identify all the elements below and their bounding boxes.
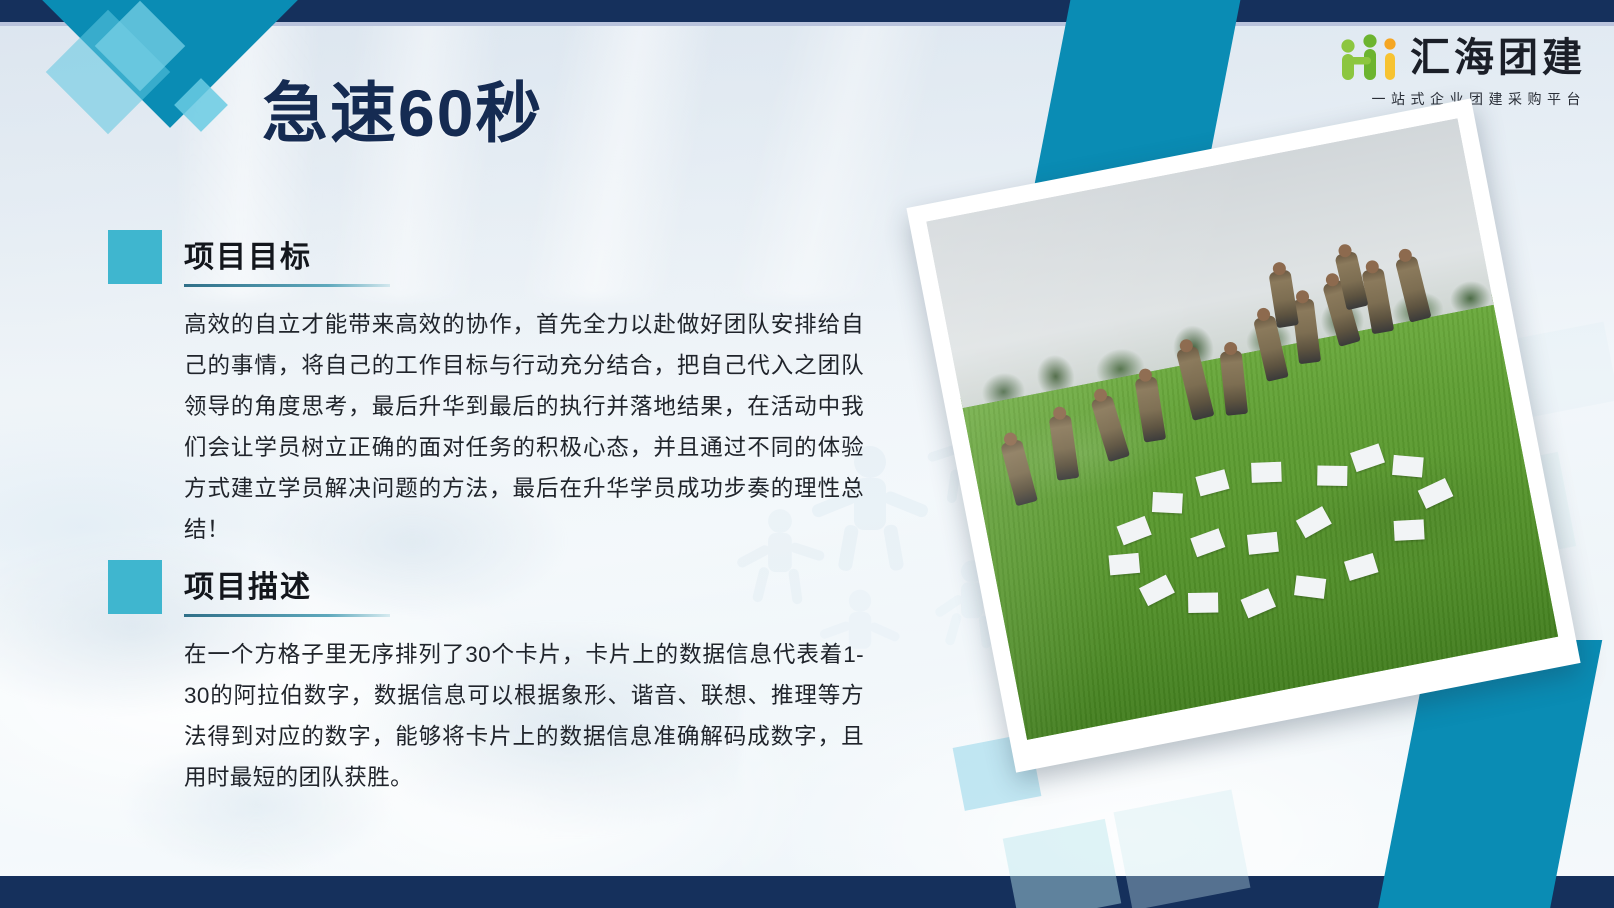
hi-people-icon xyxy=(1337,34,1401,82)
slide-canvas: 急速60秒 汇海团建 一站式企业团建采购平台 项目目标 高效的自立才能带来高效的… xyxy=(0,0,1614,908)
section-description-title: 项目描述 xyxy=(184,562,312,606)
photo-number-card xyxy=(1152,492,1183,514)
photo-number-card xyxy=(1294,576,1326,600)
photo-number-card xyxy=(1251,462,1282,483)
section-goal-body: 高效的自立才能带来高效的协作，首先全力以赴做好团队安排给自己的事情，将自己的工作… xyxy=(184,304,864,550)
square-marker-icon xyxy=(108,230,162,284)
photo-number-card xyxy=(1318,465,1348,486)
section-description-body: 在一个方格子里无序排列了30个卡片，卡片上的数据信息代表着1-30的阿拉伯数字，… xyxy=(184,634,864,798)
activity-photo-card xyxy=(906,98,1580,772)
decor-square-c xyxy=(1114,789,1251,908)
brand-logo: 汇海团建 一站式企业团建采购平台 xyxy=(1337,34,1586,109)
section-goal-title: 项目目标 xyxy=(184,232,312,276)
section-description-header: 项目描述 xyxy=(108,558,868,622)
photo-number-card xyxy=(1247,531,1279,554)
section-goal-rule xyxy=(184,284,390,287)
logo-tagline: 一站式企业团建采购平台 xyxy=(1372,89,1587,109)
page-title: 急速60秒 xyxy=(262,60,543,156)
activity-photo xyxy=(926,118,1558,740)
photo-number-card xyxy=(1188,593,1218,614)
photo-number-card xyxy=(1392,455,1424,478)
section-goal-header: 项目目标 xyxy=(108,228,868,292)
section-description: 项目描述 在一个方格子里无序排列了30个卡片，卡片上的数据信息代表着1-30的阿… xyxy=(108,558,868,798)
section-description-rule xyxy=(184,614,390,617)
logo-row: 汇海团建 xyxy=(1337,34,1586,82)
photo-number-card xyxy=(1394,520,1425,542)
logo-wordmark: 汇海团建 xyxy=(1410,38,1586,78)
square-marker-icon xyxy=(108,560,162,614)
bottom-accent-strip xyxy=(0,876,1614,908)
section-goal: 项目目标 高效的自立才能带来高效的协作，首先全力以赴做好团队安排给自己的事情，将… xyxy=(108,228,868,550)
photo-number-card xyxy=(1108,553,1140,576)
